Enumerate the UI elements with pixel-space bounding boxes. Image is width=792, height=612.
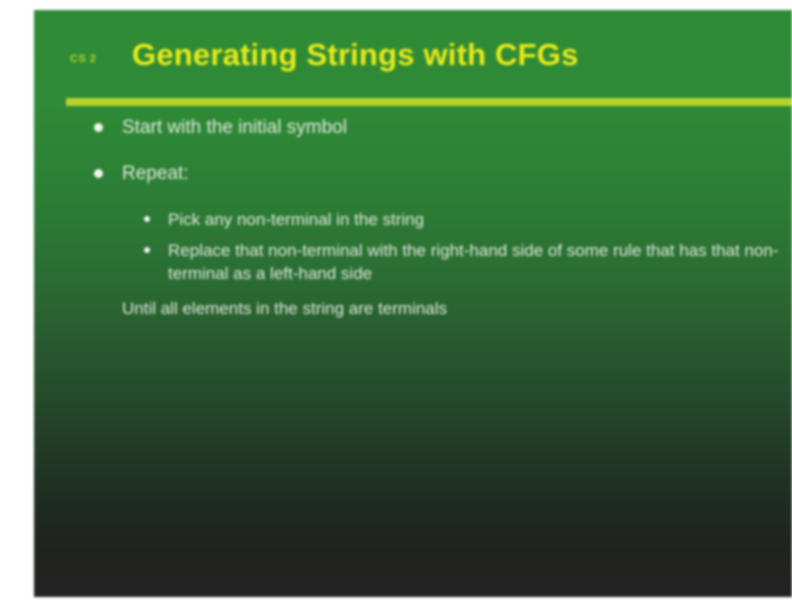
list-item: Repeat:: [34, 162, 792, 186]
slide-course-tag: CS 2: [70, 54, 96, 65]
slide-title-band: CS 2 Generating Strings with CFGs: [34, 10, 792, 96]
list-item-label: Repeat:: [122, 163, 189, 184]
bullet-dot-icon: [144, 216, 150, 222]
presentation-slide: CS 2 Generating Strings with CFGs Start …: [34, 10, 792, 597]
list-item: Pick any non-terminal in the string: [34, 208, 792, 231]
bullet-dot-icon: [94, 123, 103, 132]
closing-line: Until all elements in the string are ter…: [34, 298, 792, 320]
bullet-dot-icon: [94, 169, 103, 178]
list-item: Start with the initial symbol: [34, 116, 792, 140]
slide-body: Start with the initial symbol Repeat: Pi…: [34, 116, 792, 320]
list-item-label: Pick any non-terminal in the string: [168, 210, 424, 229]
closing-line-label: Until all elements in the string are ter…: [122, 299, 447, 318]
list-item-label: Replace that non-terminal with the right…: [168, 241, 778, 283]
page-title: Generating Strings with CFGs: [132, 38, 579, 72]
page-canvas: CS 2 Generating Strings with CFGs Start …: [0, 0, 792, 612]
bullet-dot-icon: [144, 247, 150, 253]
list-item: Replace that non-terminal with the right…: [34, 239, 792, 286]
list-item-label: Start with the initial symbol: [122, 117, 347, 138]
title-underline-rule: [66, 98, 792, 106]
